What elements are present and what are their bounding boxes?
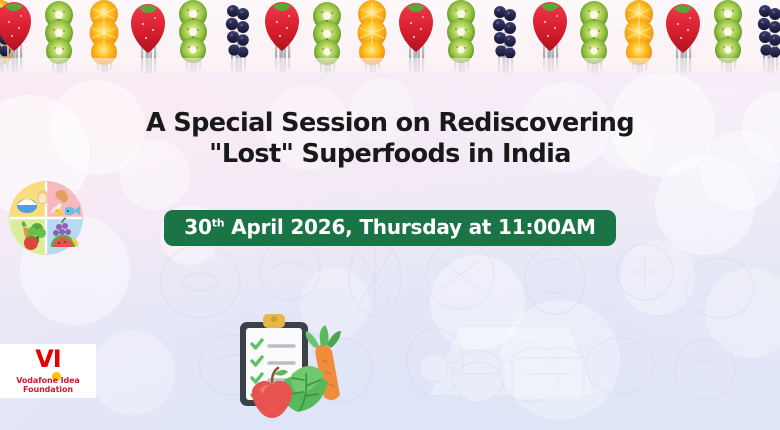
fruit-border-strip [0,0,780,73]
title-line-2: "Lost" Superfoods in India [0,139,780,170]
rice-bowl-and-grain-sack-watermark [420,300,610,430]
logo-caption: Vodafone Idea Foundation [0,376,96,394]
clipboard-checklist-with-vegetables [222,302,390,430]
date-banner-wrap: 30th April 2026, Thursday at 11:00AM [0,210,780,246]
date-ordinal: th [212,216,225,229]
date-time-badge: 30th April 2026, Thursday at 11:00AM [164,210,615,246]
vi-logo-mark: VI [0,347,96,371]
date-rest: April 2026, Thursday at 11:00AM [224,215,595,239]
title-line-1: A Special Session on Rediscovering [0,108,780,139]
page-title: A Special Session on Rediscovering "Lost… [0,108,780,170]
poster-canvas: A Special Session on Rediscovering "Lost… [0,0,780,430]
date-day: 30 [184,215,211,239]
vodafone-idea-foundation-logo: VI Vodafone Idea Foundation [0,344,96,398]
